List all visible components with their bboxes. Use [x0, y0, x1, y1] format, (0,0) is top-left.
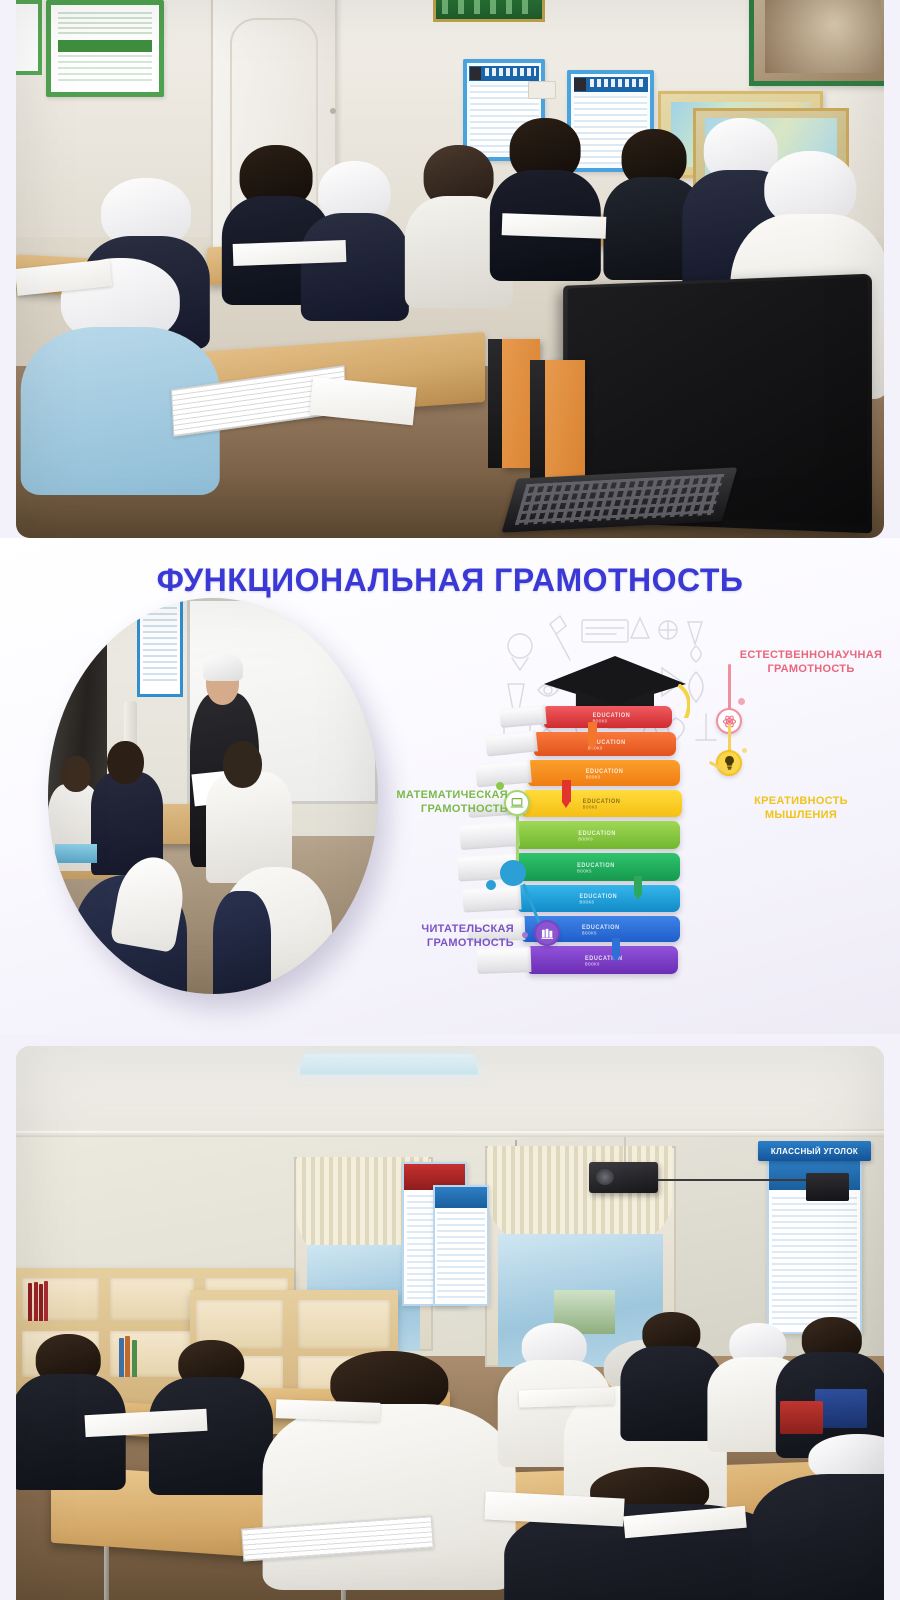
student-foreground-right	[220, 867, 332, 994]
klassny-ugolok-banner: КЛАССНЫЙ УГОЛОК	[758, 1141, 871, 1161]
book-orange-dark: EDUCATIONBOOKS	[534, 732, 676, 756]
ceiling-light	[300, 1054, 479, 1075]
wall-box	[806, 1173, 849, 1201]
bookmark-green-icon	[634, 876, 642, 894]
student-back-1	[493, 118, 597, 269]
green-wall-poster-edge	[16, 0, 42, 75]
books-icon	[534, 920, 560, 946]
page-root: ФУНКЦИОНАЛЬНАЯ ГРАМОТНОСТЬ	[0, 0, 900, 1600]
green-board-strip	[433, 0, 546, 22]
connector-dot	[522, 932, 528, 938]
book-light-blue: EDUCATIONBOOKS	[518, 885, 680, 912]
book-green: EDUCATIONBOOKS	[514, 853, 680, 881]
label-math-line2: ГРАМОТНОСТЬ	[358, 802, 508, 816]
wall-poster-left-2	[433, 1185, 489, 1307]
wall-poster	[137, 598, 183, 697]
label-math-literacy: МАТЕМАТИЧЕСКАЯ ГРАМОТНОСТЬ	[358, 788, 508, 817]
door-knob-icon	[330, 108, 336, 114]
projector-cable	[658, 1179, 814, 1181]
label-reading-line1: ЧИТАТЕЛЬСКАЯ	[364, 922, 514, 936]
label-creative-line2: МЫШЛЕНИЯ	[726, 808, 876, 822]
book-yellow: EDUCATIONBOOKS	[522, 790, 682, 817]
folder-red	[780, 1401, 823, 1434]
functional-literacy-infographic: EDUCATIONBOOKS EDUCATIONBOOKS EDUCATIONB…	[470, 598, 890, 1018]
paper-sheet	[276, 1399, 381, 1422]
student-b-foreground-right	[762, 1434, 884, 1600]
connector-hub-blue	[500, 860, 526, 886]
books-on-desk	[55, 844, 98, 864]
lightbulb-icon	[716, 750, 742, 776]
book-light-green: EDUCATIONBOOKS	[516, 821, 680, 849]
book-red: EDUCATIONBOOKS	[544, 706, 672, 728]
label-science-line2: ГРАМОТНОСТЬ	[726, 662, 896, 676]
green-wall-poster	[46, 0, 163, 97]
label-creative-line1: КРЕАТИВНОСТЬ	[726, 794, 876, 808]
book-orange: EDUCATIONBOOKS	[528, 760, 680, 786]
wall-socket	[528, 81, 556, 99]
label-science-line1: ЕСТЕСТВЕННОНАУЧНАЯ	[726, 648, 896, 662]
label-reading-literacy: ЧИТАТЕЛЬСКАЯ ГРАМОТНОСТЬ	[364, 922, 514, 951]
connector-dot	[486, 880, 496, 890]
student-b-5	[624, 1312, 719, 1434]
student-foreground-left	[74, 875, 186, 994]
label-creative-thinking: КРЕАТИВНОСТЬ МЫШЛЕНИЯ	[726, 794, 876, 823]
label-science-literacy: ЕСТЕСТВЕННОНАУЧНАЯ ГРАМОТНОСТЬ	[726, 648, 896, 677]
book-stack: EDUCATIONBOOKS EDUCATIONBOOKS EDUCATIONB…	[488, 706, 718, 1006]
bookmark-red-icon	[562, 780, 571, 802]
bookmark-orange-icon	[588, 722, 597, 744]
klassny-ugolok-text: КЛАССНЫЙ УГОЛОК	[771, 1147, 858, 1156]
photo-top-classroom	[16, 0, 884, 538]
student-mid-2	[302, 161, 406, 312]
framed-picture	[749, 0, 884, 86]
connector-dot	[738, 698, 745, 705]
label-reading-line2: ГРАМОТНОСТЬ	[364, 936, 514, 950]
page-title: ФУНКЦИОНАЛЬНАЯ ГРАМОТНОСТЬ	[0, 562, 900, 599]
circle-photo-teacher-class	[48, 598, 378, 994]
book-purple: EDUCATIONBOOKS	[528, 946, 678, 974]
bookmark-blue-icon	[612, 938, 620, 956]
student-b-1	[16, 1334, 120, 1478]
photo-bottom-classroom: КЛАССНЫЙ УГОЛОК	[16, 1046, 884, 1600]
label-math-line1: МАТЕМАТИЧЕСКАЯ	[358, 788, 508, 802]
connector-dot	[742, 748, 747, 753]
books-on-shelf	[27, 1278, 94, 1321]
paper-sheet	[233, 240, 347, 265]
infographic-slide: ФУНКЦИОНАЛЬНАЯ ГРАМОТНОСТЬ	[0, 538, 900, 1034]
projector	[589, 1162, 658, 1192]
paper-sheet	[502, 213, 607, 238]
